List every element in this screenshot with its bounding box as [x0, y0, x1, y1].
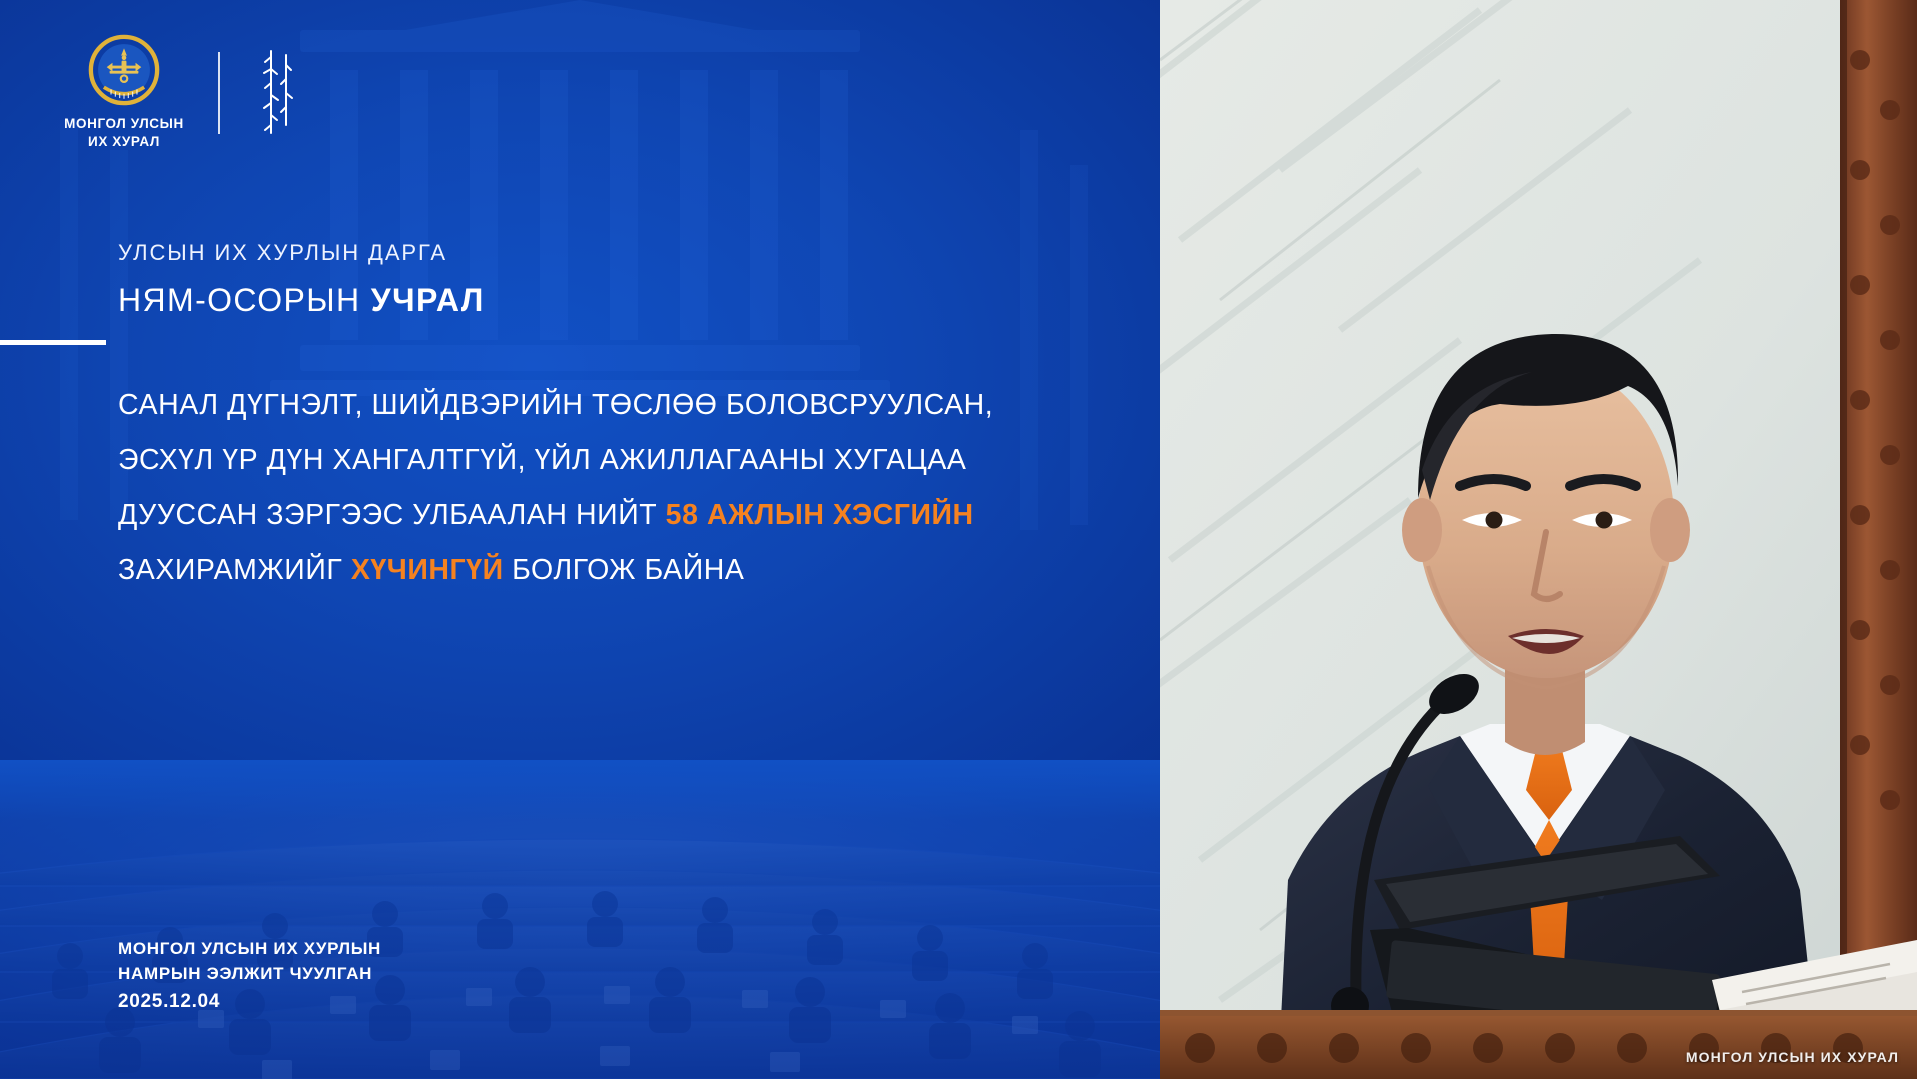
speaker-name: НЯМ-ОСОРЫН УЧРАЛ	[118, 282, 485, 319]
accent-rule-divider	[0, 340, 106, 345]
emblem-group: МОНГОЛ УЛСЫН ИХ ХУРАЛ	[62, 34, 186, 151]
footer-line-1: МОНГОЛ УЛСЫН ИХ ХУРЛЫН	[118, 936, 381, 961]
statement-line-1: САНАЛ ДҮГНЭЛТ, ШИЙДВЭРИЙН ТӨСЛӨӨ БОЛОВСР…	[118, 378, 1078, 433]
title-block: УЛСЫН ИХ ХУРЛЫН ДАРГА НЯМ-ОСОРЫН УЧРАЛ	[118, 240, 485, 319]
speaker-surname: УЧРАЛ	[371, 282, 485, 318]
speaker-photo-panel: МОНГОЛ УЛСЫН ИХ ХУРАЛ	[1160, 0, 1917, 1079]
broadcast-graphic: МОНГОЛ УЛСЫН ИХ ХУРАЛ	[0, 0, 1917, 1079]
statement-line-4-text-b: БОЛГОЖ БАЙНА	[504, 554, 745, 586]
mongolia-soyombo-emblem-icon	[88, 34, 160, 106]
vertical-divider-icon	[218, 52, 220, 134]
traditional-mongolian-script-icon	[260, 45, 294, 141]
footer-date: 2025.12.04	[118, 988, 381, 1015]
photo-watermark: МОНГОЛ УЛСЫН ИХ ХУРАЛ	[1686, 1049, 1899, 1065]
statement-highlight-invalid: ХҮЧИНГҮЙ	[351, 554, 504, 586]
session-footer: МОНГОЛ УЛСЫН ИХ ХУРЛЫН НАМРЫН ЭЭЛЖИТ ЧУУ…	[118, 936, 381, 1015]
statement-text: САНАЛ ДҮГНЭЛТ, ШИЙДВЭРИЙН ТӨСЛӨӨ БОЛОВСР…	[118, 378, 1078, 598]
left-info-panel: МОНГОЛ УЛСЫН ИХ ХУРАЛ	[0, 0, 1160, 1079]
chamber-top-fade	[0, 760, 1160, 820]
statement-line-3-text: ДУУССАН ЗЭРГЭЭС УЛБААЛАН НИЙТ	[118, 499, 666, 531]
statement-line-3: ДУУССАН ЗЭРГЭЭС УЛБААЛАН НИЙТ 58 АЖЛЫН Х…	[118, 488, 1078, 543]
statement-line-4: ЗАХИРАМЖИЙГ ХҮЧИНГҮЙ БОЛГОЖ БАЙНА	[118, 543, 1078, 598]
speaker-given-name: НЯМ-ОСОРЫН	[118, 282, 371, 318]
speaker-role-kicker: УЛСЫН ИХ ХУРЛЫН ДАРГА	[118, 240, 485, 266]
statement-highlight-count: 58 АЖЛЫН ХЭСГИЙН	[666, 499, 974, 531]
footer-line-2: НАМРЫН ЭЭЛЖИТ ЧУУЛГАН	[118, 961, 381, 986]
speaker-at-podium-photo	[1160, 0, 1917, 1079]
statement-line-4-text-a: ЗАХИРАМЖИЙГ	[118, 554, 351, 586]
statement-line-2: ЭСХҮЛ ҮР ДҮН ХАНГАЛТГҮЙ, ҮЙЛ АЖИЛЛАГААНЫ…	[118, 433, 1078, 488]
parliament-chamber-photo	[0, 760, 1160, 1079]
organization-name: МОНГОЛ УЛСЫН ИХ ХУРАЛ	[64, 115, 184, 151]
logo-lockup: МОНГОЛ УЛСЫН ИХ ХУРАЛ	[62, 34, 294, 151]
